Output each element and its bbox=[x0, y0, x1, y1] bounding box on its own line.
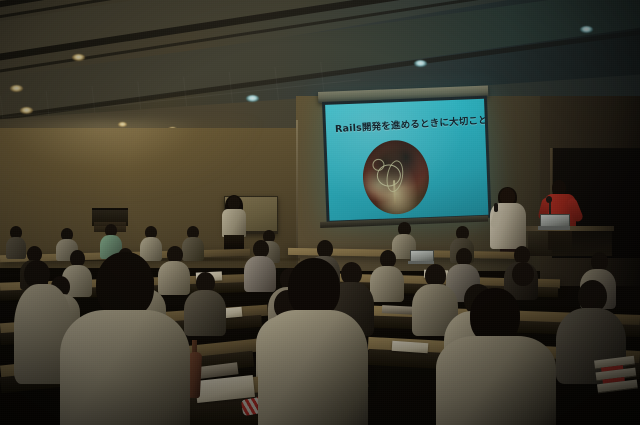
paper-stack bbox=[594, 356, 638, 395]
presenter-laptop bbox=[540, 214, 568, 230]
downlight-icon bbox=[414, 60, 427, 67]
head bbox=[96, 252, 154, 318]
attendee bbox=[184, 272, 226, 330]
slide-surface: Rails開発を進めるときに大切こと bbox=[325, 99, 488, 221]
attendee-foreground bbox=[436, 288, 556, 425]
head bbox=[228, 196, 240, 210]
downlight-icon bbox=[246, 95, 259, 102]
photo-scene: Rails開発を進めるときに大切こと bbox=[0, 0, 640, 425]
attendee-laptop bbox=[410, 250, 432, 264]
projection-screen: Rails開発を進めるときに大切こと bbox=[322, 96, 492, 224]
microphone-icon bbox=[494, 203, 498, 212]
microphone-icon bbox=[546, 196, 552, 203]
torso bbox=[60, 310, 190, 425]
torso bbox=[222, 209, 246, 237]
downlight-icon bbox=[72, 54, 85, 61]
torso bbox=[184, 290, 226, 336]
torso bbox=[436, 336, 556, 425]
downlight-icon bbox=[580, 26, 593, 33]
head bbox=[288, 258, 340, 318]
attendee-foreground bbox=[60, 252, 190, 425]
attendee bbox=[370, 250, 404, 296]
downlight-icon bbox=[10, 85, 23, 92]
laptop-base bbox=[538, 226, 570, 230]
torso bbox=[258, 310, 368, 425]
attendee-foreground bbox=[258, 258, 368, 425]
wall-light-glow bbox=[0, 120, 260, 200]
downlight-icon bbox=[20, 107, 33, 114]
torso bbox=[370, 266, 404, 302]
